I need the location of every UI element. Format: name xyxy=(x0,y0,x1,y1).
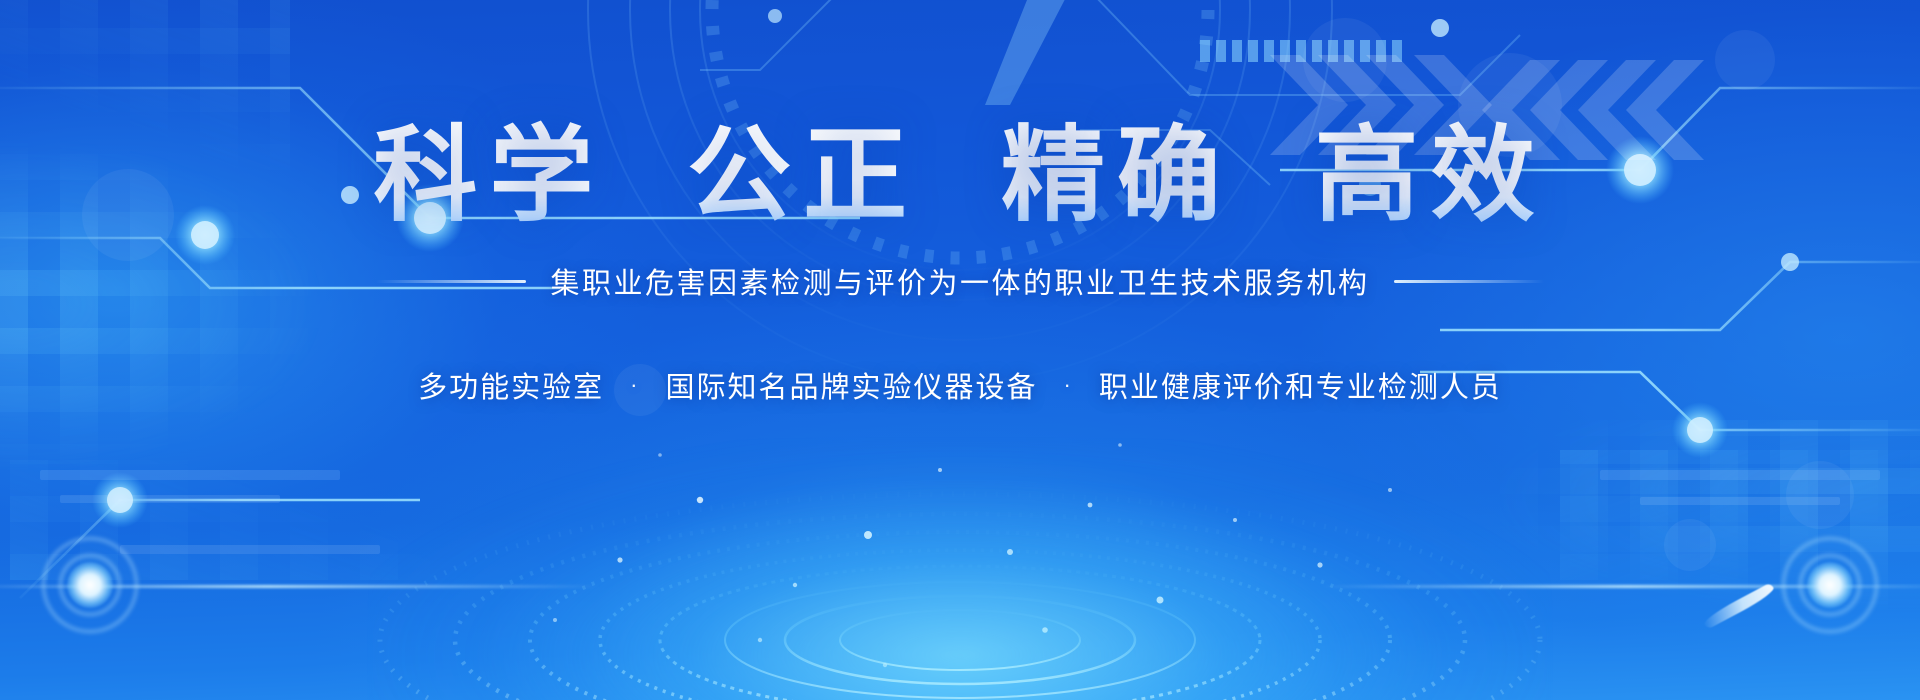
circuit-grid-bottom-right xyxy=(1560,450,1920,580)
flare-streak-right xyxy=(1320,585,1920,588)
banner-subtitle-row: 集职业危害因素检测与评价为一体的职业卫生技术服务机构 xyxy=(376,260,1543,302)
lens-flare-right xyxy=(1680,525,1920,645)
subtitle-rule-right xyxy=(1394,280,1544,283)
flare-streak-left xyxy=(0,585,600,588)
tagline-separator-1: · xyxy=(608,372,661,398)
hero-banner: 科学 公正 精确 高效 集职业危害因素检测与评价为一体的职业卫生技术服务机构 多… xyxy=(0,0,1920,700)
flare-ring-inner xyxy=(1799,554,1861,616)
data-texture xyxy=(40,470,1880,554)
banner-tagline: 多功能实验室 · 国际知名品牌实验仪器设备 · 职业健康评价和专业检测人员 xyxy=(414,364,1506,406)
spark-streak-icon xyxy=(1702,582,1777,629)
tagline-item-2: 国际知名品牌实验仪器设备 xyxy=(661,364,1041,406)
circuit-grid-bottom-left xyxy=(10,460,430,580)
circuit-grid-right xyxy=(1500,420,1920,610)
rings-glow xyxy=(370,440,1550,700)
hud-segment-bars xyxy=(1200,40,1402,62)
tagline-item-1: 多功能实验室 xyxy=(414,364,608,406)
flare-ring-inner xyxy=(59,554,121,616)
banner-subtitle: 集职业危害因素检测与评价为一体的职业卫生技术服务机构 xyxy=(550,260,1369,302)
hud-slash xyxy=(985,0,1075,105)
subtitle-rule-left xyxy=(376,280,526,283)
tagline-item-3: 职业健康评价和专业检测人员 xyxy=(1095,364,1506,406)
banner-content: 科学 公正 精确 高效 集职业危害因素检测与评价为一体的职业卫生技术服务机构 多… xyxy=(0,118,1920,406)
flare-ring-outer xyxy=(42,537,138,633)
banner-headline: 科学 公正 精确 高效 xyxy=(363,118,1556,234)
particles xyxy=(553,443,1392,667)
flare-core-left xyxy=(67,562,113,608)
flare-core-right xyxy=(1807,562,1853,608)
flare-ring-outer xyxy=(1782,537,1878,633)
light-rings xyxy=(380,494,1540,700)
tagline-separator-2: · xyxy=(1042,372,1095,398)
lens-flare-left xyxy=(0,525,240,645)
